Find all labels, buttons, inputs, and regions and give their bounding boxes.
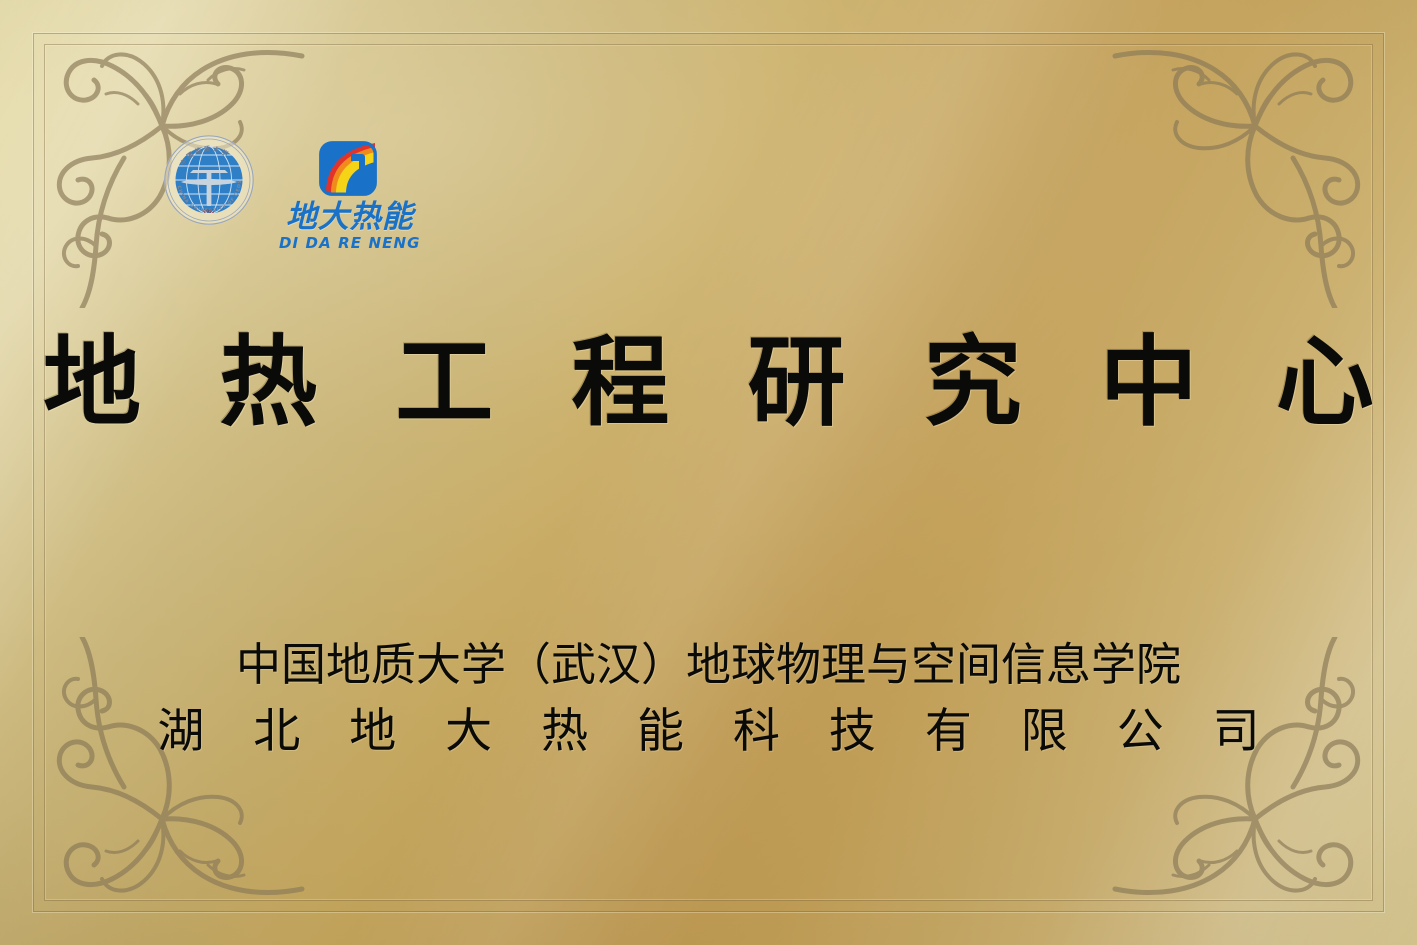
award-plaque: 中国地质大学 CHINA UNIVERSITY OF GEOSCIENCES 1…	[0, 0, 1417, 945]
company-logo: 地大热能 DI DA RE NENG	[279, 140, 421, 251]
university-seal-icon: 中国地质大学 CHINA UNIVERSITY OF GEOSCIENCES 1…	[163, 134, 255, 226]
institution-line-company: 湖 北 地 大 热 能 科 技 有 限 公 司	[0, 703, 1417, 760]
didareneng-logo-icon	[318, 140, 382, 200]
page-title: 地 热 工 程 研 究 中 心	[0, 330, 1417, 436]
company-name-chinese: 地大热能	[286, 202, 414, 233]
institution-block: 中国地质大学（武汉）地球物理与空间信息学院 湖 北 地 大 热 能 科 技 有 …	[0, 638, 1417, 760]
logo-row: 中国地质大学 CHINA UNIVERSITY OF GEOSCIENCES 1…	[163, 134, 421, 251]
corner-flourish-top-right	[1105, 8, 1405, 308]
company-name-pinyin: DI DA RE NENG	[279, 236, 421, 251]
svg-text:1952: 1952	[203, 209, 214, 215]
institution-line-university: 中国地质大学（武汉）地球物理与空间信息学院	[0, 638, 1417, 693]
